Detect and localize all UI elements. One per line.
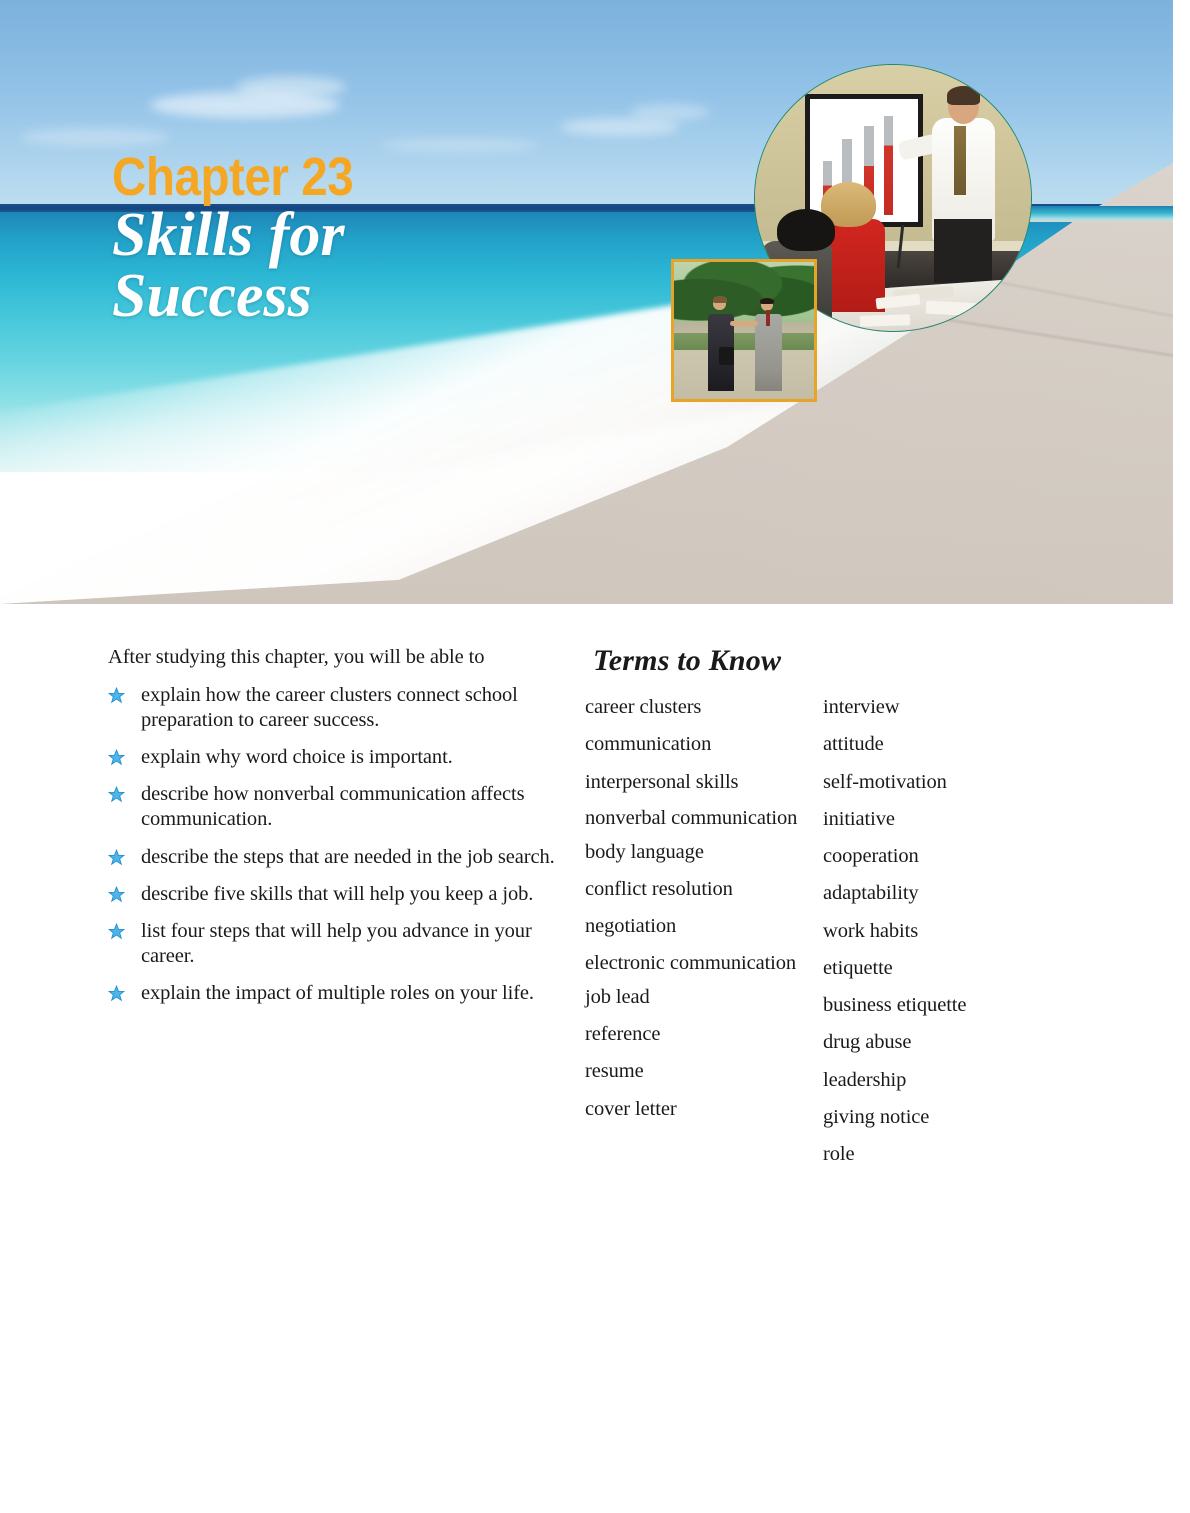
- term-item: resume: [585, 1058, 823, 1085]
- cloud: [380, 138, 540, 152]
- objective-item: explain how the career clusters connect …: [108, 683, 558, 733]
- star-icon: [108, 748, 125, 765]
- term-item: initiative: [823, 806, 1061, 833]
- cloud: [560, 118, 680, 136]
- photo-hedge: [674, 333, 814, 349]
- terms-column-2: interview attitude self-motivation initi…: [823, 694, 1061, 1178]
- term-item: job lead: [585, 984, 823, 1011]
- briefcase: [719, 347, 734, 365]
- chart-bar: [884, 116, 894, 214]
- terms-columns: career clusters communication interperso…: [585, 694, 1115, 1178]
- star-icon: [108, 785, 125, 802]
- term-item: self-motivation: [823, 769, 1061, 796]
- term-item: communication: [585, 731, 823, 758]
- objective-item: describe how nonverbal communication aff…: [108, 782, 558, 832]
- objective-text: list four steps that will help you advan…: [141, 920, 532, 967]
- term-item: conflict resolution: [585, 876, 823, 903]
- term-item: cooperation: [823, 843, 1061, 870]
- objective-text: describe how nonverbal communication aff…: [141, 783, 524, 830]
- star-icon: [108, 885, 125, 902]
- objective-item: list four steps that will help you advan…: [108, 919, 558, 969]
- term-item: interview: [823, 694, 1061, 721]
- terms-to-know-section: Terms to Know career clusters communicat…: [585, 644, 1115, 1178]
- rectangular-photo-handshake: [671, 259, 817, 402]
- term-item: cover letter: [585, 1096, 823, 1123]
- photo-trees: [674, 262, 814, 325]
- term-item: role: [823, 1141, 1061, 1168]
- term-item: attitude: [823, 731, 1061, 758]
- chapter-title: Skills for Success: [112, 205, 345, 327]
- term-item: leadership: [823, 1067, 1061, 1094]
- objectives-list: explain how the career clusters connect …: [108, 683, 558, 1007]
- term-item: negotiation: [585, 913, 823, 940]
- handshake-man-tie: [766, 310, 770, 326]
- term-item: interpersonal skills: [585, 769, 823, 796]
- objective-text: explain the impact of multiple roles on …: [141, 982, 534, 1004]
- objectives-intro: After studying this chapter, you will be…: [108, 645, 558, 671]
- term-item: career clusters: [585, 694, 823, 721]
- term-item: electronic communication: [585, 951, 823, 975]
- presenter-trousers: [934, 219, 992, 283]
- objectives-section: After studying this chapter, you will be…: [108, 645, 558, 1019]
- chapter-banner-image: Chapter 23 Skills for Success: [0, 0, 1173, 604]
- paper-sheet: [860, 314, 910, 326]
- handshake-man-hair: [713, 296, 727, 303]
- cloud: [630, 104, 710, 120]
- star-icon: [108, 686, 125, 703]
- objective-item: describe the steps that are needed in th…: [108, 845, 558, 870]
- presenter-tie: [954, 126, 966, 195]
- term-item: etiquette: [823, 955, 1061, 982]
- objective-text: explain why word choice is important.: [141, 746, 453, 768]
- term-item: business etiquette: [823, 992, 1061, 1019]
- handshake-man-hair: [760, 298, 774, 305]
- objective-text: describe five skills that will help you …: [141, 883, 533, 905]
- term-item: body language: [585, 839, 823, 866]
- term-item: nonverbal communication: [585, 806, 823, 830]
- star-icon: [108, 848, 125, 865]
- star-icon: [108, 984, 125, 1001]
- term-item: reference: [585, 1021, 823, 1048]
- seated-man-hair: [777, 209, 835, 252]
- term-item: drug abuse: [823, 1029, 1061, 1056]
- objective-text: explain how the career clusters connect …: [141, 684, 518, 731]
- cloud: [236, 76, 346, 98]
- handshake-arms: [730, 321, 758, 326]
- presenter-hair: [947, 86, 980, 105]
- objective-item: explain the impact of multiple roles on …: [108, 981, 558, 1006]
- terms-to-know-heading: Terms to Know: [593, 644, 1115, 678]
- objective-text: describe the steps that are needed in th…: [141, 846, 555, 868]
- objective-item: explain why word choice is important.: [108, 745, 558, 770]
- objective-item: describe five skills that will help you …: [108, 882, 558, 907]
- cloud: [20, 128, 170, 146]
- terms-column-1: career clusters communication interperso…: [585, 694, 823, 1178]
- term-item: work habits: [823, 918, 1061, 945]
- star-icon: [108, 922, 125, 939]
- paper-sheet: [926, 300, 982, 316]
- term-item: adaptability: [823, 880, 1061, 907]
- term-item: giving notice: [823, 1104, 1061, 1131]
- chapter-number: Chapter 23: [112, 150, 353, 204]
